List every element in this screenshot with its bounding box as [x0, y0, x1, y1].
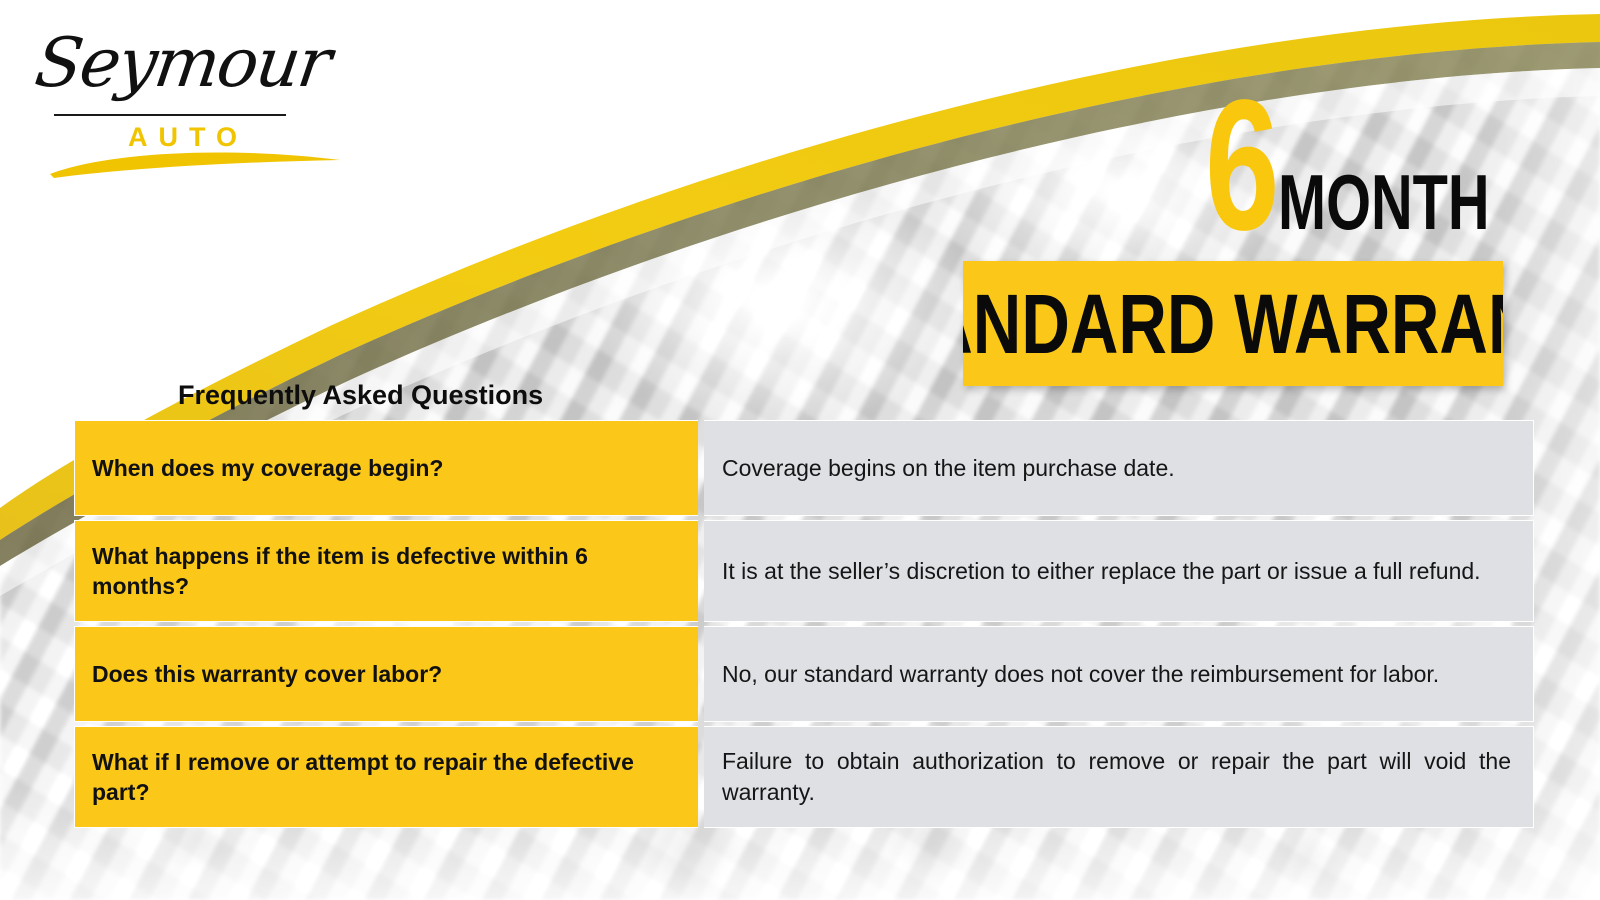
logo-swoosh-icon	[48, 144, 348, 180]
faq-answer-cell: No, our standard warranty does not cover…	[704, 626, 1534, 722]
faq-answer-cell: Failure to obtain authorization to remov…	[704, 726, 1534, 828]
warranty-slide: Seymour AUTO 6 MONTH STANDARD WARRANTY F…	[0, 0, 1600, 900]
faq-question-cell: Does this warranty cover labor?	[74, 626, 698, 722]
standard-warranty-banner: STANDARD WARRANTY	[963, 261, 1503, 386]
faq-table-row: What if I remove or attempt to repair th…	[74, 726, 1534, 828]
warranty-term-unit: MONTH	[1278, 171, 1490, 235]
faq-heading: Frequently Asked Questions	[178, 380, 543, 411]
faq-answer-text: Failure to obtain authorization to remov…	[722, 746, 1511, 808]
faq-question-cell: What if I remove or attempt to repair th…	[74, 726, 698, 828]
faq-table: When does my coverage begin? Coverage be…	[74, 420, 1534, 828]
warranty-term-number: 6	[1205, 90, 1275, 243]
faq-table-row: Does this warranty cover labor? No, our …	[74, 626, 1534, 722]
faq-answer-text: Coverage begins on the item purchase dat…	[722, 453, 1511, 484]
logo-underline-rule	[54, 114, 286, 116]
faq-answer-cell: It is at the seller’s discretion to eith…	[704, 520, 1534, 622]
faq-table-row: What happens if the item is defective wi…	[74, 520, 1534, 622]
faq-answer-cell: Coverage begins on the item purchase dat…	[704, 420, 1534, 516]
faq-question-cell: When does my coverage begin?	[74, 420, 698, 516]
logo-script-text: Seymour	[30, 24, 334, 103]
seymour-auto-logo: Seymour AUTO	[30, 18, 330, 183]
standard-warranty-banner-text: STANDARD WARRANTY	[963, 282, 1503, 366]
faq-question-cell: What happens if the item is defective wi…	[74, 520, 698, 622]
warranty-term: 6 MONTH	[1205, 78, 1564, 243]
faq-answer-text: It is at the seller’s discretion to eith…	[722, 556, 1511, 587]
faq-table-row: When does my coverage begin? Coverage be…	[74, 420, 1534, 516]
faq-answer-text: No, our standard warranty does not cover…	[722, 659, 1511, 690]
